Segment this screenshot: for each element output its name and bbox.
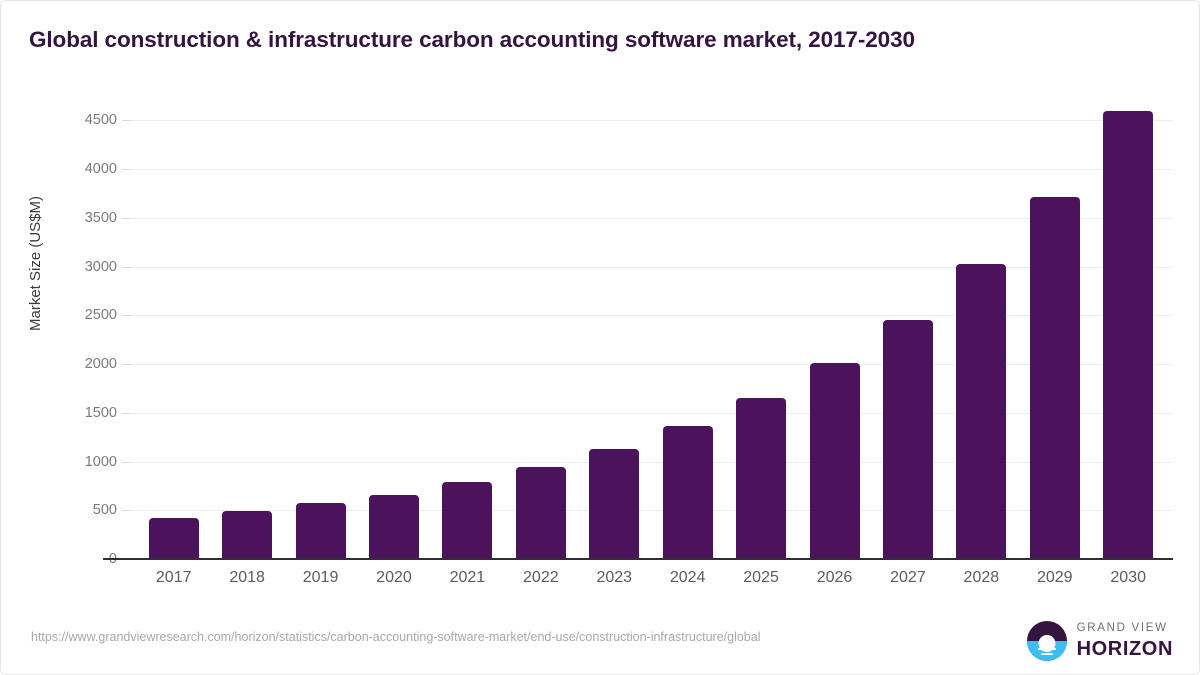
- x-axis-tick-label: 2019: [284, 569, 357, 587]
- x-axis-tick-labels: 2017201820192020202120222023202420252026…: [131, 569, 1173, 587]
- x-axis-tick-label: 2028: [945, 569, 1018, 587]
- bar-slot: [1018, 101, 1091, 559]
- bar-slot: [137, 101, 210, 559]
- logo-ray-1: [1038, 648, 1056, 650]
- y-axis-tick-mark: [122, 413, 131, 414]
- x-axis-tick-label: 2030: [1091, 569, 1164, 587]
- y-axis-tick-mark: [122, 169, 131, 170]
- bar-series: [131, 101, 1173, 559]
- bar-2024[interactable]: [663, 426, 713, 560]
- bar-slot: [871, 101, 944, 559]
- y-axis-title: Market Size (US$M): [27, 196, 44, 331]
- x-axis-tick-label: 2025: [724, 569, 797, 587]
- bar-slot: [1091, 101, 1164, 559]
- logo-ray-2: [1041, 653, 1053, 655]
- brand-logo-text: GRAND VIEW HORIZON: [1077, 623, 1173, 659]
- brand-logo: GRAND VIEW HORIZON: [1027, 621, 1173, 661]
- bar-slot: [210, 101, 283, 559]
- y-axis-tick-mark: [122, 315, 131, 316]
- y-axis-tick-label: 2000: [85, 356, 117, 372]
- bar-2022[interactable]: [516, 467, 566, 559]
- x-axis-tick-label: 2026: [798, 569, 871, 587]
- bar-slot: [651, 101, 724, 559]
- y-axis-tick-mark: [122, 462, 131, 463]
- y-axis-tick-label: 2500: [85, 307, 117, 323]
- y-axis-tick-label: 4500: [85, 112, 117, 128]
- bar-2019[interactable]: [296, 503, 346, 559]
- bar-2030[interactable]: [1103, 111, 1153, 559]
- x-axis-baseline: [103, 558, 1173, 560]
- bar-2029[interactable]: [1030, 197, 1080, 560]
- y-axis-tick-mark: [122, 510, 131, 511]
- y-axis-tick-label: 500: [93, 502, 117, 518]
- bar-2026[interactable]: [810, 363, 860, 559]
- bar-slot: [798, 101, 871, 559]
- x-axis-tick-label: 2022: [504, 569, 577, 587]
- bar-2021[interactable]: [442, 482, 492, 559]
- x-axis-tick-label: 2027: [871, 569, 944, 587]
- x-axis-tick-label: 2017: [137, 569, 210, 587]
- bar-2027[interactable]: [883, 320, 933, 559]
- brand-name-bottom: HORIZON: [1077, 639, 1173, 659]
- bar-slot: [945, 101, 1018, 559]
- horizon-circle-icon: [1027, 621, 1067, 661]
- y-axis-tick-label: 1500: [85, 405, 117, 421]
- page-title: Global construction & infrastructure car…: [29, 27, 915, 53]
- bar-2020[interactable]: [369, 495, 419, 559]
- x-axis-tick-label: 2018: [210, 569, 283, 587]
- source-url[interactable]: https://www.grandviewresearch.com/horizo…: [31, 629, 931, 646]
- bar-slot: [504, 101, 577, 559]
- brand-name-top: GRAND VIEW: [1077, 623, 1173, 635]
- x-axis-tick-label: 2023: [578, 569, 651, 587]
- bar-2018[interactable]: [222, 511, 272, 559]
- plot-area: 050010001500200025003000350040004500: [131, 101, 1173, 559]
- y-axis-tick-mark: [122, 364, 131, 365]
- bar-slot: [284, 101, 357, 559]
- bar-2023[interactable]: [589, 449, 639, 559]
- bar-slot: [724, 101, 797, 559]
- y-axis-tick-label: 3500: [85, 210, 117, 226]
- bar-slot: [357, 101, 430, 559]
- bar-2028[interactable]: [956, 264, 1006, 559]
- bar-2025[interactable]: [736, 398, 786, 559]
- y-axis-tick-label: 3000: [85, 259, 117, 275]
- y-axis-tick-mark: [122, 218, 131, 219]
- x-axis-tick-label: 2024: [651, 569, 724, 587]
- y-axis-tick-label: 1000: [85, 454, 117, 470]
- y-axis-tick-label: 4000: [85, 161, 117, 177]
- bar-slot: [578, 101, 651, 559]
- y-axis-tick-mark: [122, 267, 131, 268]
- x-axis-tick-label: 2020: [357, 569, 430, 587]
- y-axis-tick-mark: [122, 120, 131, 121]
- x-axis-tick-label: 2021: [431, 569, 504, 587]
- x-axis-tick-label: 2029: [1018, 569, 1091, 587]
- bar-2017[interactable]: [149, 518, 199, 559]
- bar-slot: [431, 101, 504, 559]
- chart-page: Global construction & infrastructure car…: [0, 0, 1200, 675]
